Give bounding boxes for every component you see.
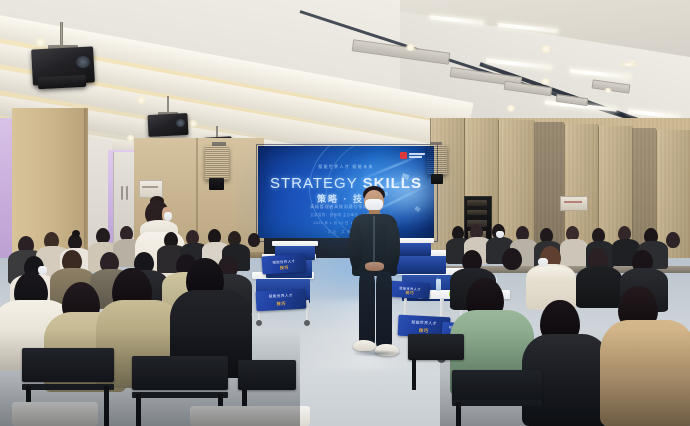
audience-hair-bun-1 (72, 230, 80, 237)
chair-4 (452, 370, 542, 402)
downlight-recessed-square (620, 62, 638, 67)
downlight-3 (188, 120, 198, 127)
door-handle-left (121, 186, 123, 200)
table-left-1-caster (256, 320, 262, 326)
presenter (345, 186, 405, 362)
audience-body-m2-10 (576, 266, 622, 308)
chair-4-frame (456, 402, 461, 426)
audience-head-mid-5 (248, 233, 260, 247)
downlight-12 (604, 88, 612, 93)
wall-sign-right-text (564, 201, 582, 203)
downlight-1 (34, 38, 47, 47)
downlight-2 (136, 96, 147, 104)
audience-mask-right-1 (496, 231, 504, 238)
speaker-right (427, 145, 447, 175)
wall-sign-left-text (142, 186, 158, 188)
chair-3 (238, 360, 296, 390)
chair-1-frame-2 (104, 386, 109, 426)
table-banner-4-line1: 赋能世界人才 (401, 319, 447, 326)
chair-white-front-left (12, 402, 98, 426)
chair-2 (132, 356, 228, 390)
presenter-arm-left (349, 222, 363, 270)
presenter-jacket-zip (373, 216, 375, 266)
chair-2-rail (132, 392, 228, 398)
downlight-7 (540, 45, 552, 53)
downlight-9 (506, 105, 516, 112)
rack-item-2 (467, 210, 487, 215)
presenter-leg-left (359, 272, 375, 344)
table-banner-1: 赋能世界人才 技巧 (261, 253, 306, 274)
audience-body-fg-7 (600, 320, 690, 426)
table-banner-1-line2: 技巧 (265, 264, 304, 273)
chair-5 (408, 334, 464, 360)
chair-white-front-center (190, 406, 310, 426)
chair-4-rail (452, 400, 542, 406)
presenter-shadow (351, 350, 403, 357)
downlight-8 (540, 78, 551, 85)
downlight-6 (405, 44, 416, 51)
water-bottle-1 (436, 278, 441, 291)
presenter-leg-right (376, 272, 392, 346)
table-banner-2-line2: 技巧 (259, 300, 303, 308)
speaker-right-lower (431, 174, 443, 184)
wall-sign-right (560, 196, 588, 211)
table-banner-2: 赋能世界人才 技巧 (256, 289, 307, 312)
projector-1-body-lower (38, 75, 87, 89)
presenter-hands (365, 262, 384, 271)
projector-1-lens (76, 56, 90, 68)
audience-head-right-10 (666, 232, 680, 248)
chair-5-frame (412, 358, 416, 390)
chair-1 (22, 348, 114, 382)
water-bottle-1-cap (437, 276, 441, 279)
speaker-left (205, 146, 229, 180)
speaker-left-lower (209, 178, 224, 190)
presenter-arm-right (386, 222, 400, 270)
table-left-1-leg-2 (306, 300, 309, 322)
table-left-1-caster-2 (304, 320, 310, 326)
rack-item-1 (467, 200, 487, 206)
audience-fur-collar (528, 266, 574, 284)
projector-2-lens (176, 119, 185, 127)
audience-body-right-6 (560, 239, 588, 266)
audience-mask-m2-1 (38, 266, 47, 275)
chair-1-rail (22, 384, 114, 390)
chair-2-frame (136, 394, 141, 426)
conference-room-photo: 赋能世界人才 赋能未来 STRATEGY SKILLS 策略 · 技巧 高级管理… (0, 0, 690, 426)
